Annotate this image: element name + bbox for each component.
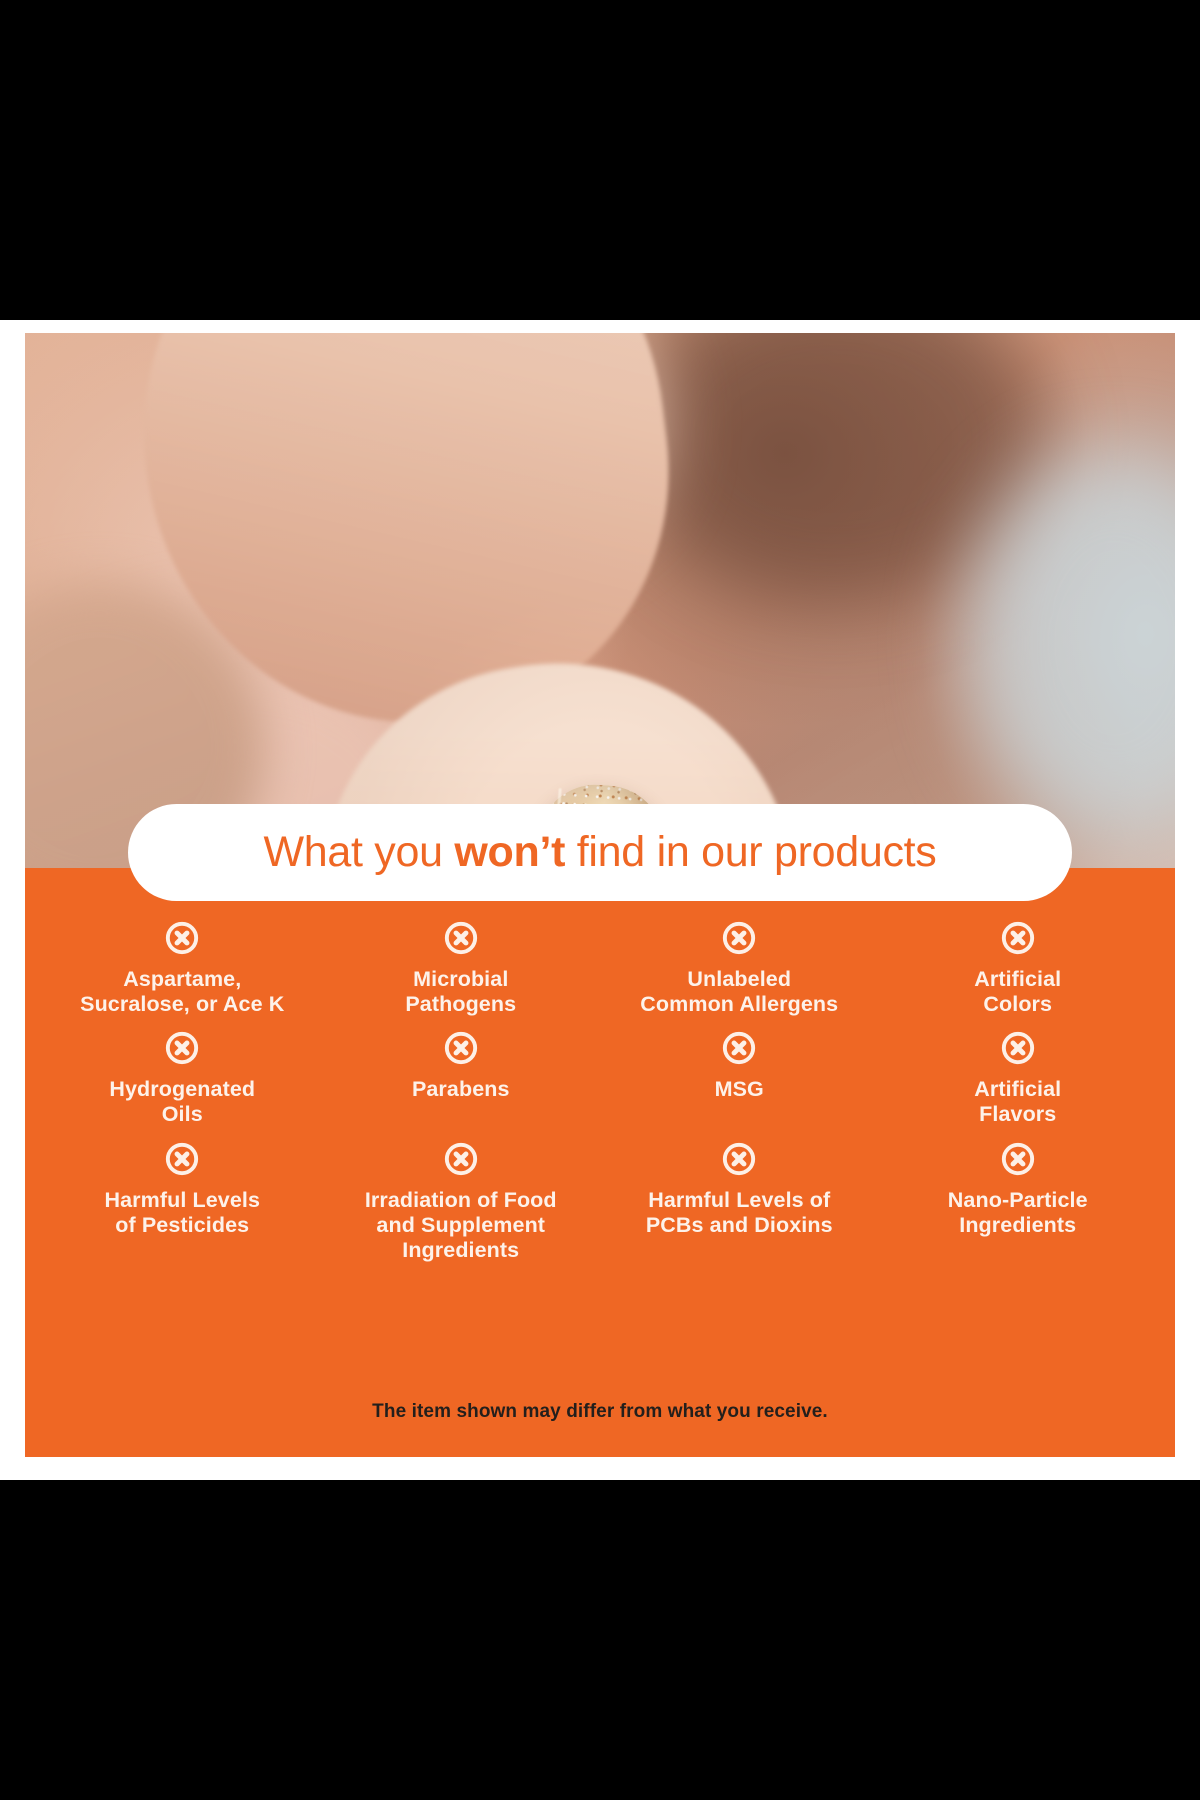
ingredient-item-aspartame-sucralose-ace-k: Aspartame, Sucralose, or Ace K (43, 921, 322, 1017)
circle-x-icon (165, 921, 199, 955)
headline-emphasis: won’t (454, 828, 565, 876)
circle-x-icon (165, 1031, 199, 1065)
ingredient-item-unlabeled-common-allergens: Unlabeled Common Allergens (600, 921, 879, 1017)
ingredient-item-parabens: Parabens (322, 1031, 601, 1127)
screenshot-stage: What you won’t find in our products Aspa… (0, 0, 1200, 1800)
headline-banner: What you won’t find in our products (128, 804, 1072, 901)
ingredient-item-artificial-flavors: Artificial Flavors (879, 1031, 1158, 1127)
product-photo (25, 333, 1175, 868)
circle-x-icon (722, 921, 756, 955)
ingredient-label: Irradiation of Food and Supplement Ingre… (330, 1188, 593, 1263)
headline-prefix: What you (264, 828, 455, 876)
ingredient-label: MSG (608, 1077, 871, 1102)
ingredient-item-msg: MSG (600, 1031, 879, 1127)
ingredient-label: Aspartame, Sucralose, or Ace K (51, 967, 314, 1017)
page-title: What you won’t find in our products (264, 831, 937, 874)
circle-x-icon (444, 1031, 478, 1065)
circle-x-icon (1001, 1031, 1035, 1065)
circle-x-icon (444, 1142, 478, 1176)
headline-suffix: find in our products (565, 828, 936, 876)
ingredient-item-irradiation-of-food-and-supplement-ingredients: Irradiation of Food and Supplement Ingre… (322, 1142, 601, 1263)
ingredient-label: Harmful Levels of Pesticides (51, 1188, 314, 1238)
ingredient-label: Harmful Levels of PCBs and Dioxins (608, 1188, 871, 1238)
circle-x-icon (1001, 1142, 1035, 1176)
ingredient-label: Hydrogenated Oils (51, 1077, 314, 1127)
ingredient-label: Parabens (330, 1077, 593, 1102)
ingredient-label: Microbial Pathogens (330, 967, 593, 1017)
excluded-ingredients-grid: Aspartame, Sucralose, or Ace K Microbial… (25, 921, 1175, 1263)
ingredient-item-nano-particle-ingredients: Nano-Particle Ingredients (879, 1142, 1158, 1263)
circle-x-icon (722, 1031, 756, 1065)
ingredient-label: Nano-Particle Ingredients (887, 1188, 1150, 1238)
ingredient-label: Artificial Colors (887, 967, 1150, 1017)
ingredient-item-harmful-levels-of-pesticides: Harmful Levels of Pesticides (43, 1142, 322, 1263)
disclaimer-text: The item shown may differ from what you … (25, 1401, 1175, 1423)
product-info-card: What you won’t find in our products Aspa… (25, 333, 1175, 1457)
circle-x-icon (444, 921, 478, 955)
ingredient-label: Artificial Flavors (887, 1077, 1150, 1127)
circle-x-icon (722, 1142, 756, 1176)
ingredient-label: Unlabeled Common Allergens (608, 967, 871, 1017)
circle-x-icon (1001, 921, 1035, 955)
ingredient-item-artificial-colors: Artificial Colors (879, 921, 1158, 1017)
circle-x-icon (165, 1142, 199, 1176)
ingredient-item-hydrogenated-oils: Hydrogenated Oils (43, 1031, 322, 1127)
ingredient-item-harmful-levels-of-pcbs-and-dioxins: Harmful Levels of PCBs and Dioxins (600, 1142, 879, 1263)
ingredient-item-microbial-pathogens: Microbial Pathogens (322, 921, 601, 1017)
